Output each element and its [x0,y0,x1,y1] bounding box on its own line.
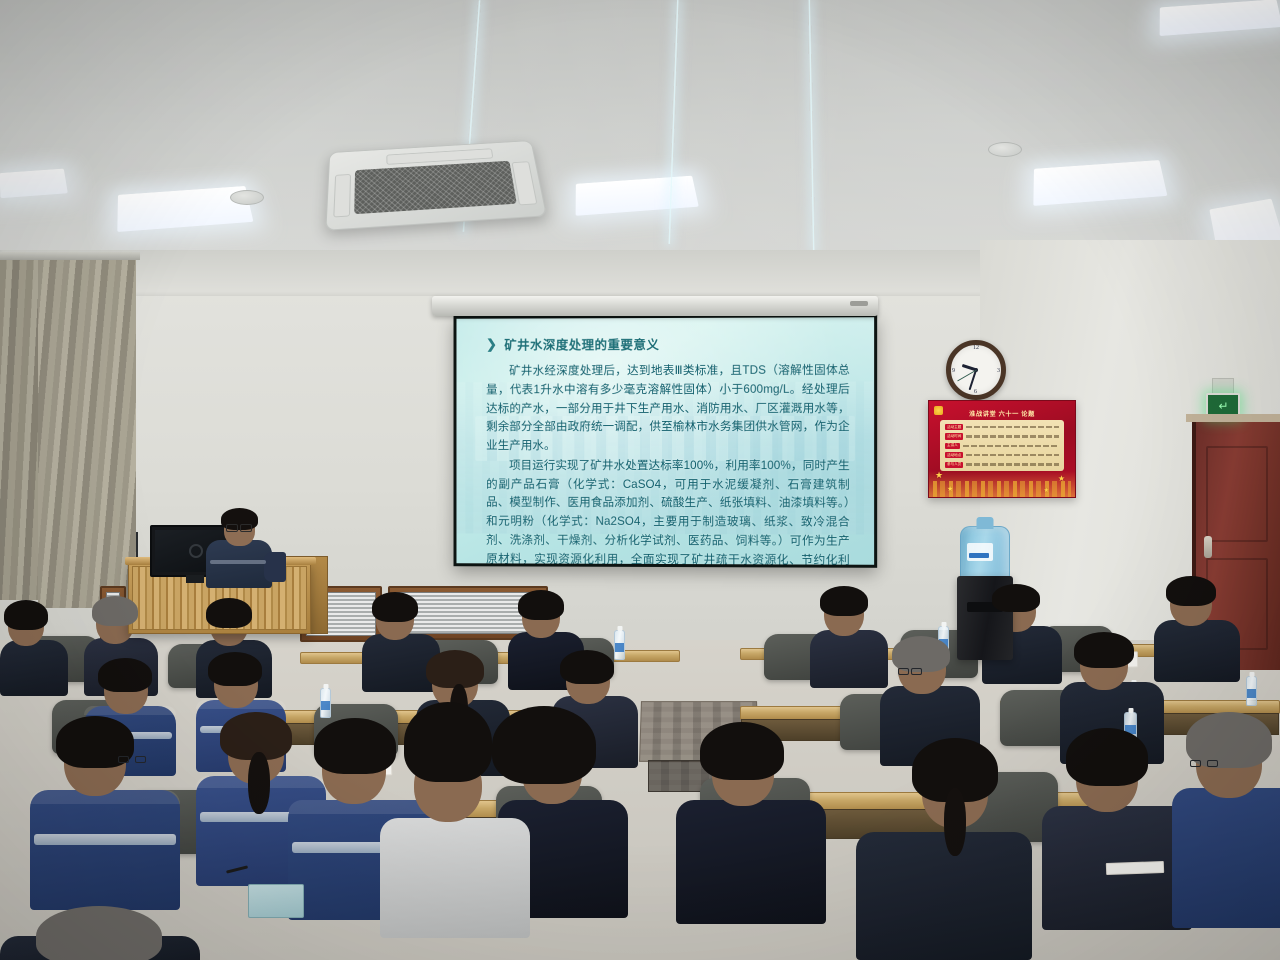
audience-member-hair [206,598,252,628]
audience-member-hair [372,592,418,622]
water-bottle [614,630,625,660]
audience-member-hair [700,722,784,780]
slide-heading-text: 矿井水深度处理的重要意义 [504,334,659,353]
audience-member-hair [426,650,484,688]
audience-member-hair [98,658,152,692]
notebook [248,884,304,918]
audience-member-glasses [1190,760,1218,767]
banner-row-tag: 活动时间 [945,433,963,439]
audience-member-hair [1166,576,1216,606]
banner-row: 参与人员 [945,462,1059,468]
star-icon: ★ [1058,474,1065,483]
audience-member-hair [518,590,564,620]
ceiling-panel-light [0,169,68,199]
audience-member-torso [1172,788,1280,928]
audience-member-glasses [898,668,922,673]
ceiling-speaker-icon [988,142,1022,157]
banner-row-text [966,463,1059,465]
audience-member-hair [1066,728,1148,786]
water-bottle [1246,676,1257,706]
banner-row-tag: 活动地点 [945,452,963,458]
wall-banner-poster: 淮战讲堂 六十一 论题 活动主题 活动时间 主讲人 活动地点 参与人员 [928,400,1076,498]
screen-surface: ❯ 矿井水深度处理的重要意义 矿井水经深度处理后，达到地表Ⅲ类标准，且TDS（溶… [456,317,874,565]
ac-grille [354,161,517,214]
water-bottle [320,688,331,718]
door-panel-upper [1206,446,1268,542]
slide-paragraph: 项目运行实现了矿井水处置达标率100%，利用率100%，同时产生的副产品石膏（化… [486,457,850,565]
banner-skyline-graphic [929,471,1075,497]
audience-member-hair [492,706,596,784]
banner-title: 淮战讲堂 六十一 论题 [929,409,1075,418]
exit-sign-mount [1212,378,1234,394]
audience-member-torso [380,818,530,938]
audience-member-ponytail [944,788,966,856]
presenter-torso [206,540,272,588]
presenter-glasses [226,524,252,530]
banner-row-tag: 参与人员 [945,462,963,468]
banner-row: 活动主题 [945,424,1059,430]
clock-numeral: 12 [973,345,979,351]
banner-info-card: 活动主题 活动时间 主讲人 活动地点 参与人员 [940,420,1064,471]
slide-content: ❯ 矿井水深度处理的重要意义 矿井水经深度处理后，达到地表Ⅲ类标准，且TDS（溶… [456,317,874,565]
clock-numeral: 6 [974,389,977,395]
audience-member-hair [92,596,138,626]
clock-numeral: 9 [952,368,955,374]
banner-row-text [966,426,1059,428]
audience-member-hair [4,600,48,630]
bottle-label [967,543,993,561]
star-icon: ★ [947,485,953,493]
monitor-stand [186,575,204,583]
water-bottle-jug [960,526,1010,582]
audience-member-torso [1154,620,1240,682]
door-handle[interactable] [1204,536,1212,558]
audience-member-hair [560,650,614,684]
slide-body: 矿井水经深度处理后，达到地表Ⅲ类标准，且TDS（溶解性固体总量，代表1升水中溶有… [486,362,850,565]
audience-member-hair [208,652,262,686]
window-curtain-inner [38,258,136,608]
running-man-exit-icon: ↵ [1218,400,1227,412]
presenter-arm [264,552,286,582]
clock-numeral: 3 [997,368,1000,374]
chevron-right-icon: ❯ [486,336,497,352]
audience-member-glasses [118,756,146,763]
wall-clock: 12 3 6 9 [946,340,1006,400]
dell-logo-icon [189,544,203,558]
audience-member-torso [810,630,888,688]
banner-row: 活动地点 [945,452,1059,458]
audience-member-ponytail [248,752,270,814]
ceiling-speaker-icon [230,190,264,205]
curtain-rod [0,252,140,260]
slide-heading: ❯ 矿井水深度处理的重要意义 [486,333,850,353]
banner-row: 主讲人 [945,443,1059,449]
ceiling-ac-cassette [325,140,547,231]
uniform-reflective-stripe [34,834,176,845]
audience-member-hair [992,584,1040,612]
audience-member-torso [676,800,826,924]
projector-screen-housing [432,296,878,316]
star-icon: ★ [1044,487,1049,494]
conference-room-photo: ❯ 矿井水深度处理的重要意义 矿井水经深度处理后，达到地表Ⅲ类标准，且TDS（溶… [0,0,1280,960]
audience-member-hair [820,586,868,616]
paper-sheet [1106,861,1164,875]
audience-member-torso [0,640,68,696]
audience-member-hair [36,906,162,960]
audience-member-torso [856,832,1032,960]
audience-member-hair [314,718,396,774]
audience-member-hair [892,636,950,672]
banner-row-text [966,435,1059,437]
projection-screen: ❯ 矿井水深度处理的重要意义 矿井水经深度处理后，达到地表Ⅲ类标准，且TDS（溶… [454,314,878,568]
star-icon: ★ [935,470,943,481]
banner-row-tag: 主讲人 [945,443,960,449]
ac-vane [333,174,351,218]
banner-row-text [966,454,1059,456]
audience-member-hair [1074,632,1134,668]
banner-row: 活动时间 [945,433,1059,439]
audience-member-hair [404,702,492,782]
door-frame [1186,414,1280,422]
banner-row-text [963,445,1059,447]
banner-row-tag: 活动主题 [945,424,963,430]
audience-member-torso [30,790,180,910]
slide-paragraph: 矿井水经深度处理后，达到地表Ⅲ类标准，且TDS（溶解性固体总量，代表1升水中溶有… [486,362,850,456]
presenter-uniform-stripe [210,560,266,564]
